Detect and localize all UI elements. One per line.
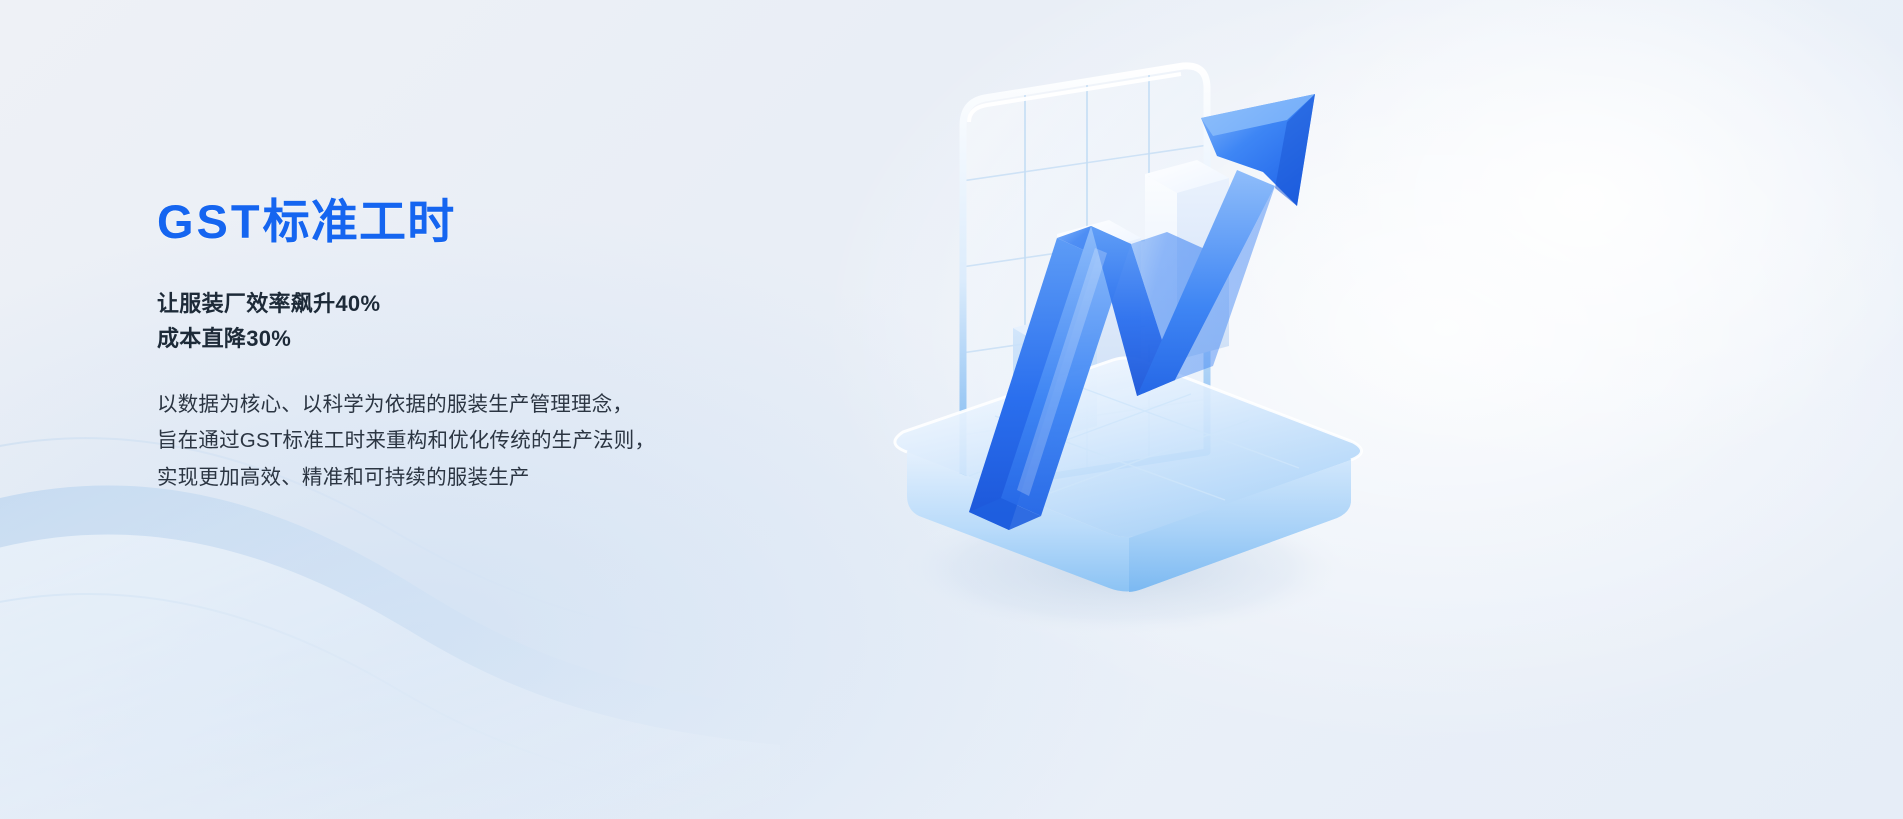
page-title: GST标准工时 [157,196,817,248]
description-line-1: 以数据为核心、以科学为依据的服装生产管理理念， [157,387,817,423]
description-line-3: 实现更加高效、精准和可持续的服装生产 [157,460,817,496]
hero-illustration [845,60,1445,660]
hero-banner: GST标准工时 让服装厂效率飙升40% 成本直降30% 以数据为核心、以科学为依… [0,0,1903,819]
description-line-2: 旨在通过GST标准工时来重构和优化传统的生产法则， [157,423,817,459]
description-list: 以数据为核心、以科学为依据的服装生产管理理念， 旨在通过GST标准工时来重构和优… [157,387,817,496]
highlight-list: 让服装厂效率飙升40% 成本直降30% [157,286,817,357]
page-title-latin: GST [157,195,263,248]
highlight-item-efficiency: 让服装厂效率飙升40% [157,286,817,322]
page-title-cjk: 标准工时 [263,195,456,248]
hero-copy: GST标准工时 让服装厂效率飙升40% 成本直降30% 以数据为核心、以科学为依… [157,196,817,496]
highlight-item-cost: 成本直降30% [157,321,817,357]
